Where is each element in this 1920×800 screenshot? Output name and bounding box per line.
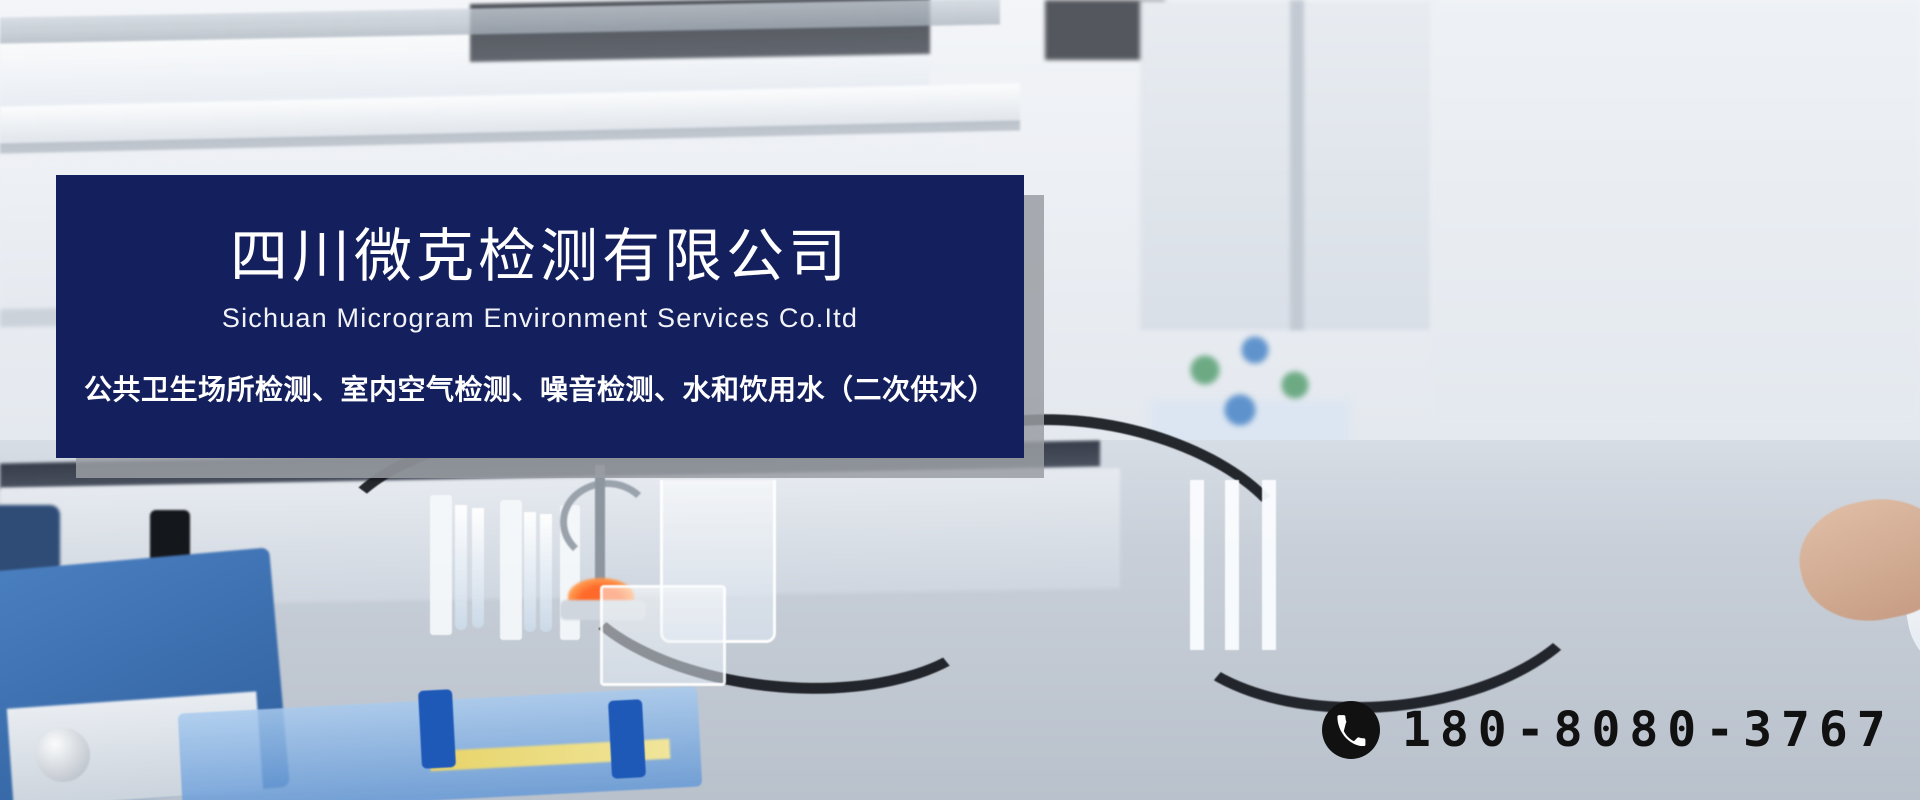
test-tube [455,505,467,630]
hero-banner: 四川微克检测有限公司 Sichuan Microgram Environment… [0,0,1920,800]
phone-number-text[interactable]: 180-8080-3767 [1402,706,1895,754]
company-name-cn: 四川微克检测有限公司 [230,227,850,285]
services-tagline: 公共卫生场所检测、室内空气检测、噪音检测、水和饮用水（二次供水） [84,376,996,404]
test-tube-rack [430,495,452,635]
glass-container [600,585,726,686]
bottle-cap [0,505,60,575]
tray-clip [418,689,456,769]
test-tube [540,514,552,632]
company-info-panel: 四川微克检测有限公司 Sichuan Microgram Environment… [56,175,1024,458]
instrument-knob [36,728,90,782]
contact-phone[interactable]: 180-8080-3767 [1322,690,1895,770]
burner-stand [595,465,605,595]
test-tube [524,512,536,632]
company-name-en: Sichuan Microgram Environment Services C… [222,305,858,332]
burner-clamp [560,480,654,564]
phone-handset-icon[interactable] [1322,701,1380,759]
hand [1789,486,1920,635]
scientist [1000,0,1920,800]
test-tube-rack [500,500,522,640]
tray-clip [608,699,646,779]
test-tube [472,508,484,628]
